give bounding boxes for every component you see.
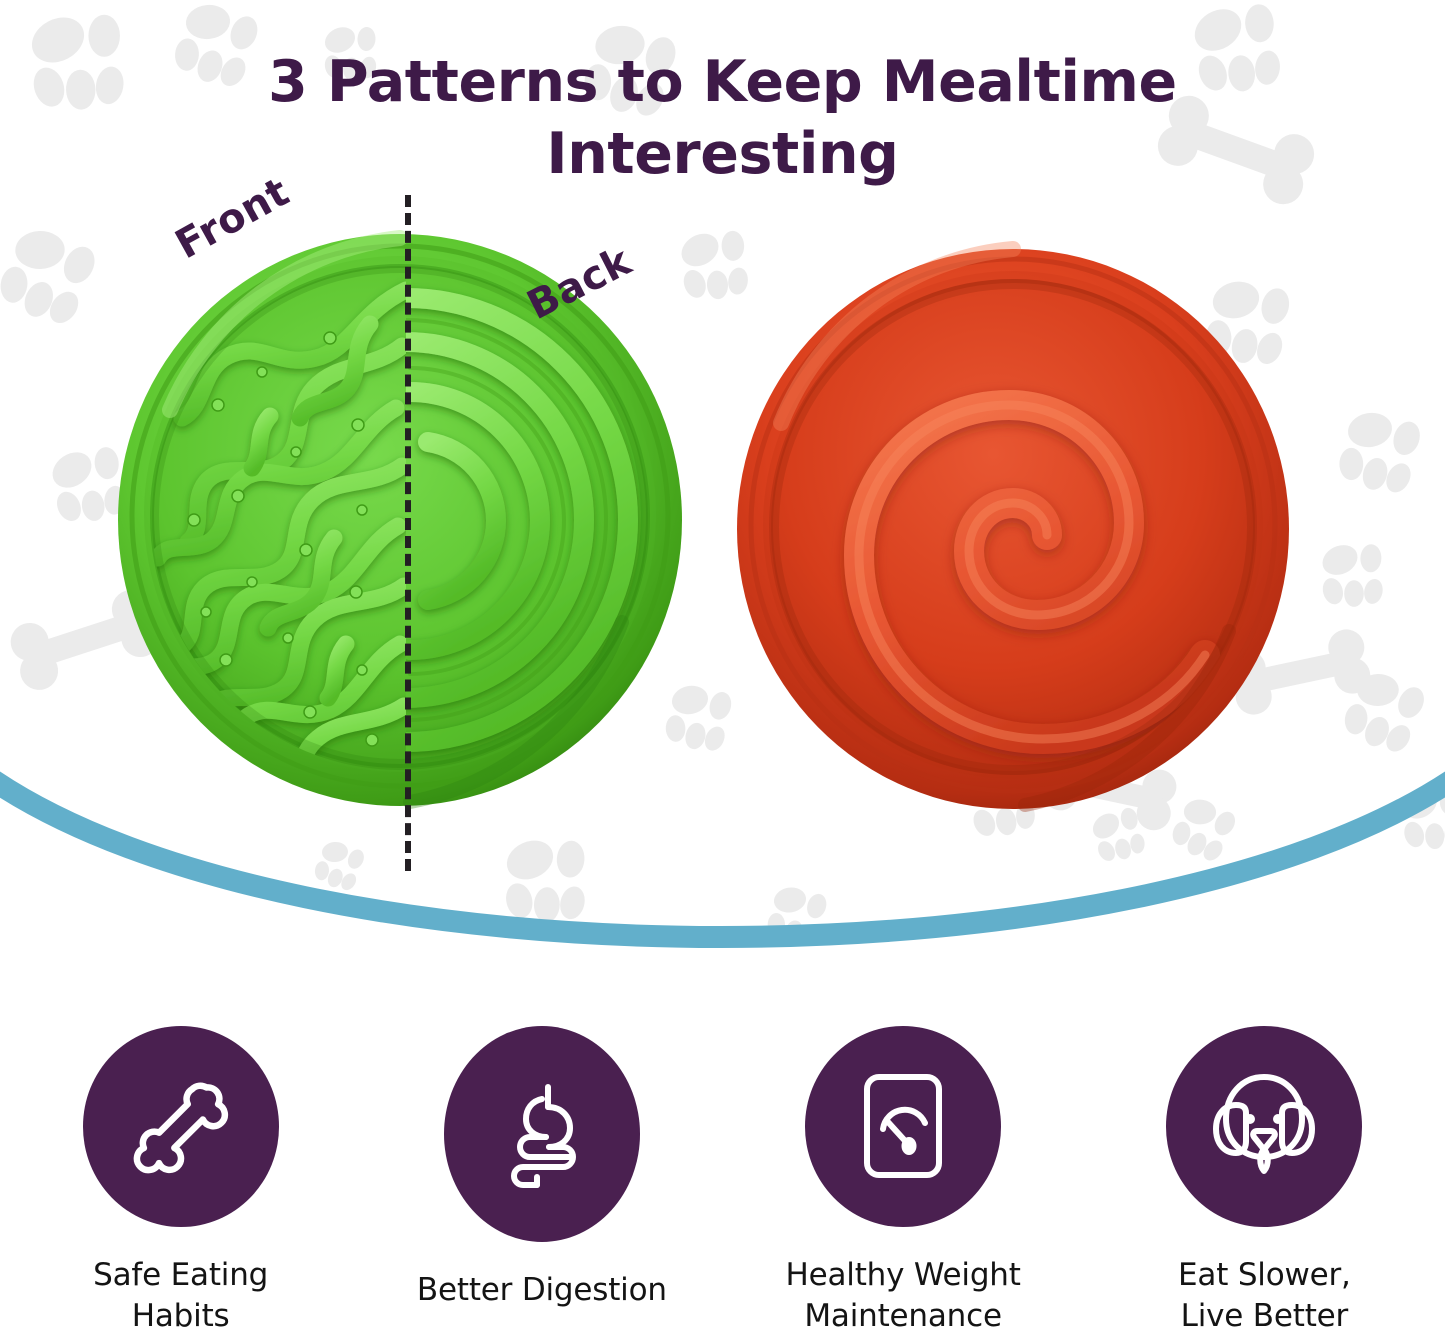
benefit-item-eat-slower[interactable]: Eat Slower, Live Better — [1084, 1026, 1445, 1337]
product-infographic: 3 Patterns to Keep Mealtime Interesting — [0, 0, 1445, 1337]
benefit-item-better-digestion[interactable]: Better Digestion — [361, 1026, 722, 1337]
headline-block: 3 Patterns to Keep Mealtime Interesting — [0, 46, 1445, 191]
page-title: 3 Patterns to Keep Mealtime Interesting — [183, 46, 1263, 191]
green-slow-feeder-bowl — [110, 220, 690, 820]
dog-face-icon — [1200, 1067, 1328, 1185]
red-slow-feeder-bowl — [725, 235, 1300, 815]
benefit-label: Eat Slower, Live Better — [1178, 1255, 1351, 1337]
intestine-icon — [486, 1075, 598, 1193]
benefit-badge — [1166, 1026, 1362, 1227]
bone-icon — [122, 1067, 240, 1185]
benefit-badge — [83, 1026, 279, 1227]
benefit-label: Better Digestion — [417, 1270, 667, 1311]
benefits-row: Safe Eating Habits B — [0, 1026, 1445, 1337]
weight-scale-icon — [847, 1067, 959, 1185]
benefit-item-healthy-weight[interactable]: Healthy Weight Maintenance — [723, 1026, 1084, 1337]
benefit-badge — [805, 1026, 1001, 1227]
product-showcase — [0, 180, 1445, 900]
front-back-dashed-divider — [405, 195, 411, 871]
benefit-label: Healthy Weight Maintenance — [786, 1255, 1021, 1337]
benefit-item-safe-eating-habits[interactable]: Safe Eating Habits — [0, 1026, 361, 1337]
benefit-label: Safe Eating Habits — [93, 1255, 268, 1337]
benefit-badge — [444, 1026, 640, 1242]
